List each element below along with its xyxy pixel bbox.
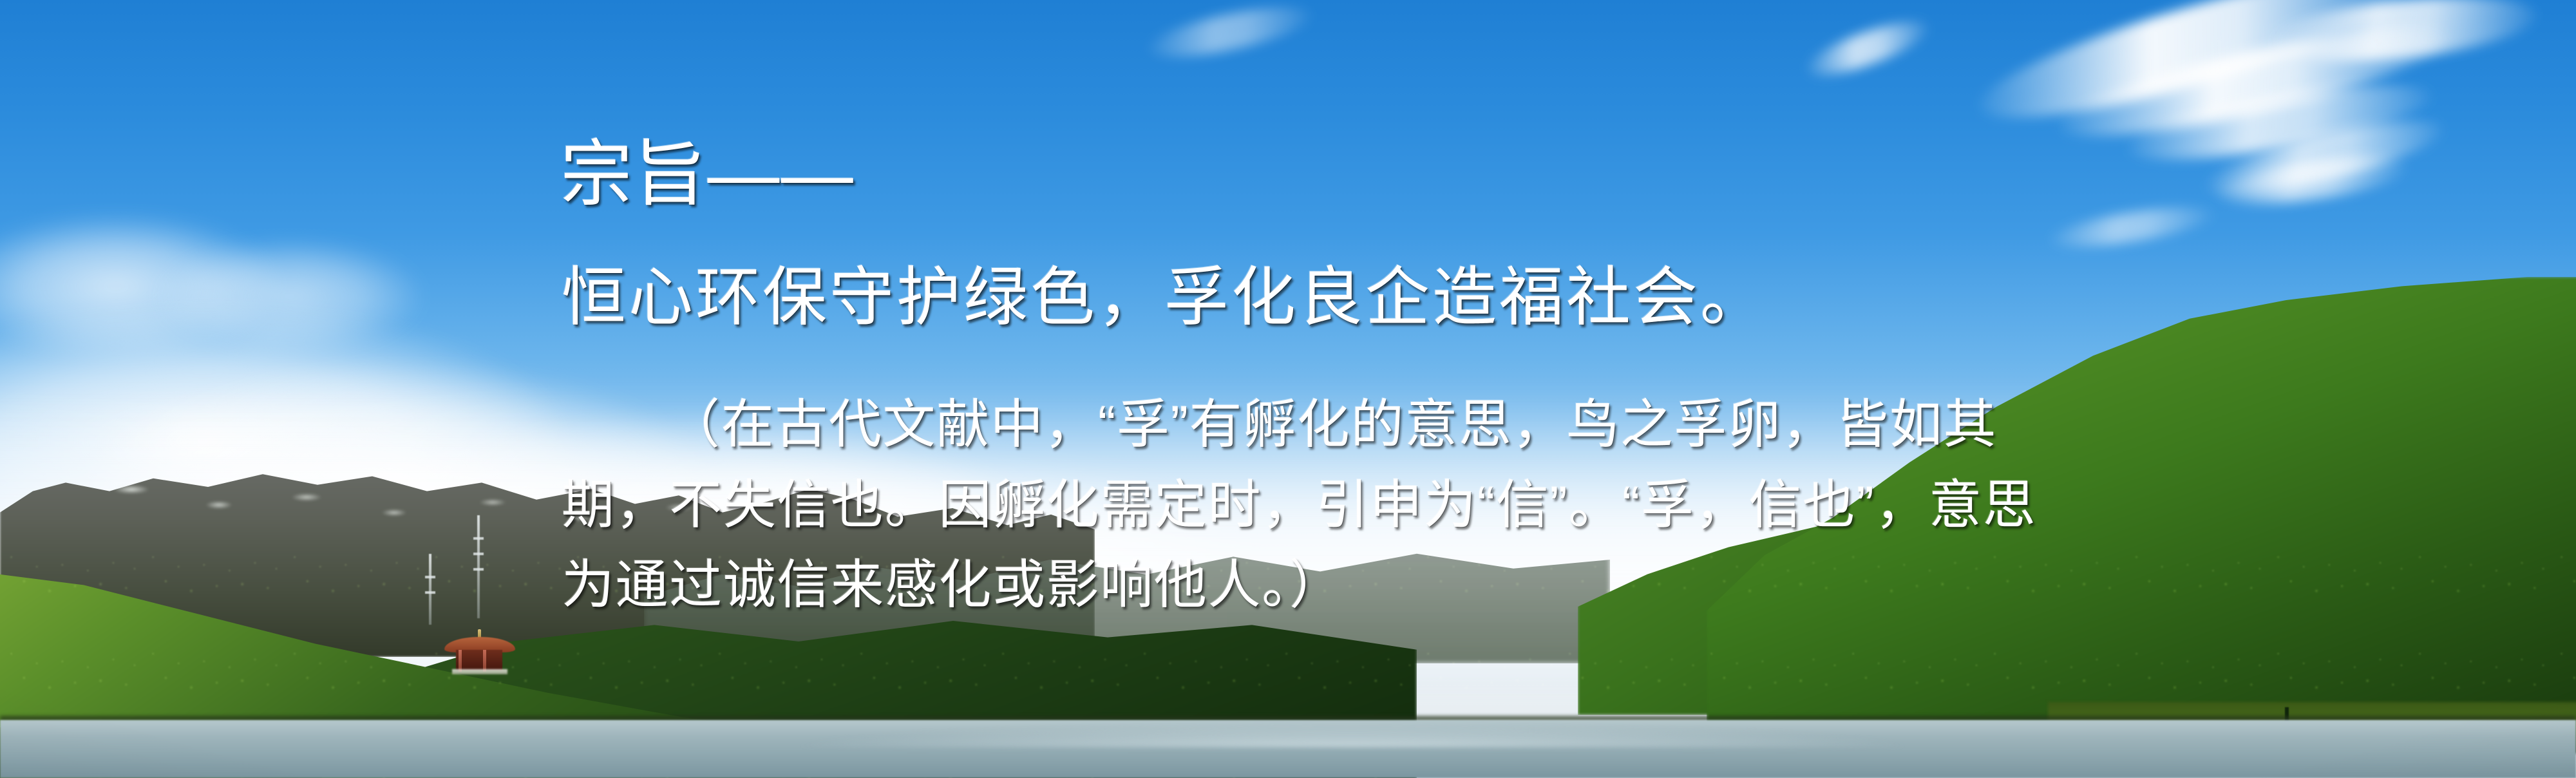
- antenna-tower-small: [425, 554, 434, 625]
- hero-banner: 宗旨—— 恒心环保守护绿色，孚化良企造福社会。 （在古代文献中，“孚”有孵化的意…: [0, 0, 2576, 778]
- tower-mast: [429, 554, 431, 625]
- tower-arm: [473, 537, 484, 540]
- tower-mast: [477, 515, 480, 618]
- tower-arm: [473, 568, 484, 571]
- antenna-tower: [473, 515, 484, 618]
- lake-highlight: [580, 708, 2125, 747]
- pavilion-body: [456, 650, 502, 670]
- banner-slogan: 恒心环保守护绿色，孚化良企造福社会。: [562, 264, 1767, 332]
- pavilion-column: [459, 650, 462, 672]
- tower-arm: [425, 576, 435, 578]
- banner-paragraph: （在古代文献中，“孚”有孵化的意思，鸟之孚卵，皆如其期，不失信也。因孵化需定时，…: [562, 385, 2043, 626]
- tower-arm: [425, 591, 435, 594]
- tower-arm: [473, 553, 484, 555]
- pavilion-base: [452, 669, 507, 674]
- pavilion-column: [483, 650, 486, 672]
- red-roof-pavilion: [444, 628, 515, 679]
- banner-title: 宗旨——: [560, 137, 855, 213]
